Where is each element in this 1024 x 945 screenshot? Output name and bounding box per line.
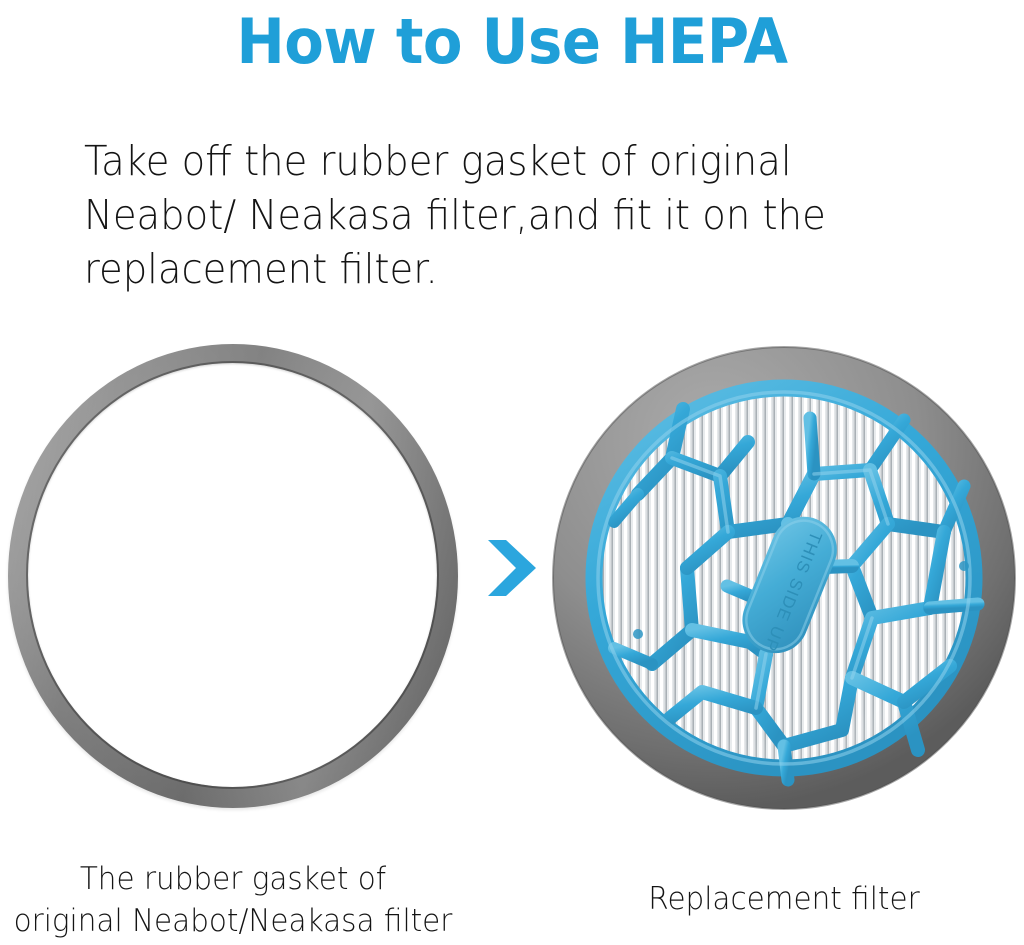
gasket-caption: The rubber gasket of original Neabot/Nea… bbox=[12, 858, 455, 942]
instruction-line-1: Take off the rubber gasket of original bbox=[84, 134, 911, 188]
rubber-gasket-image bbox=[8, 344, 458, 808]
gasket-ring-hole bbox=[28, 363, 437, 787]
gasket-caption-line-2: original Neabot/Neakasa filter bbox=[12, 900, 455, 942]
instruction-line-3: replacement filter. bbox=[84, 242, 911, 296]
replacement-filter-image: THIS SIDE UP bbox=[552, 346, 1016, 810]
page-title: How to Use HEPA bbox=[36, 6, 988, 78]
instruction-paragraph: Take off the rubber gasket of original N… bbox=[84, 134, 911, 296]
filter-caption: Replacement filter bbox=[560, 878, 1008, 920]
instruction-graphic-page: How to Use HEPA Take off the rubber gask… bbox=[0, 0, 1024, 945]
filter-caption-line-1: Replacement filter bbox=[560, 878, 1008, 920]
gasket-caption-line-1: The rubber gasket of bbox=[12, 858, 455, 900]
chevron-right-icon bbox=[484, 534, 540, 602]
instruction-line-2: Neabot/ Neakasa filter,and fit it on the bbox=[84, 188, 911, 242]
